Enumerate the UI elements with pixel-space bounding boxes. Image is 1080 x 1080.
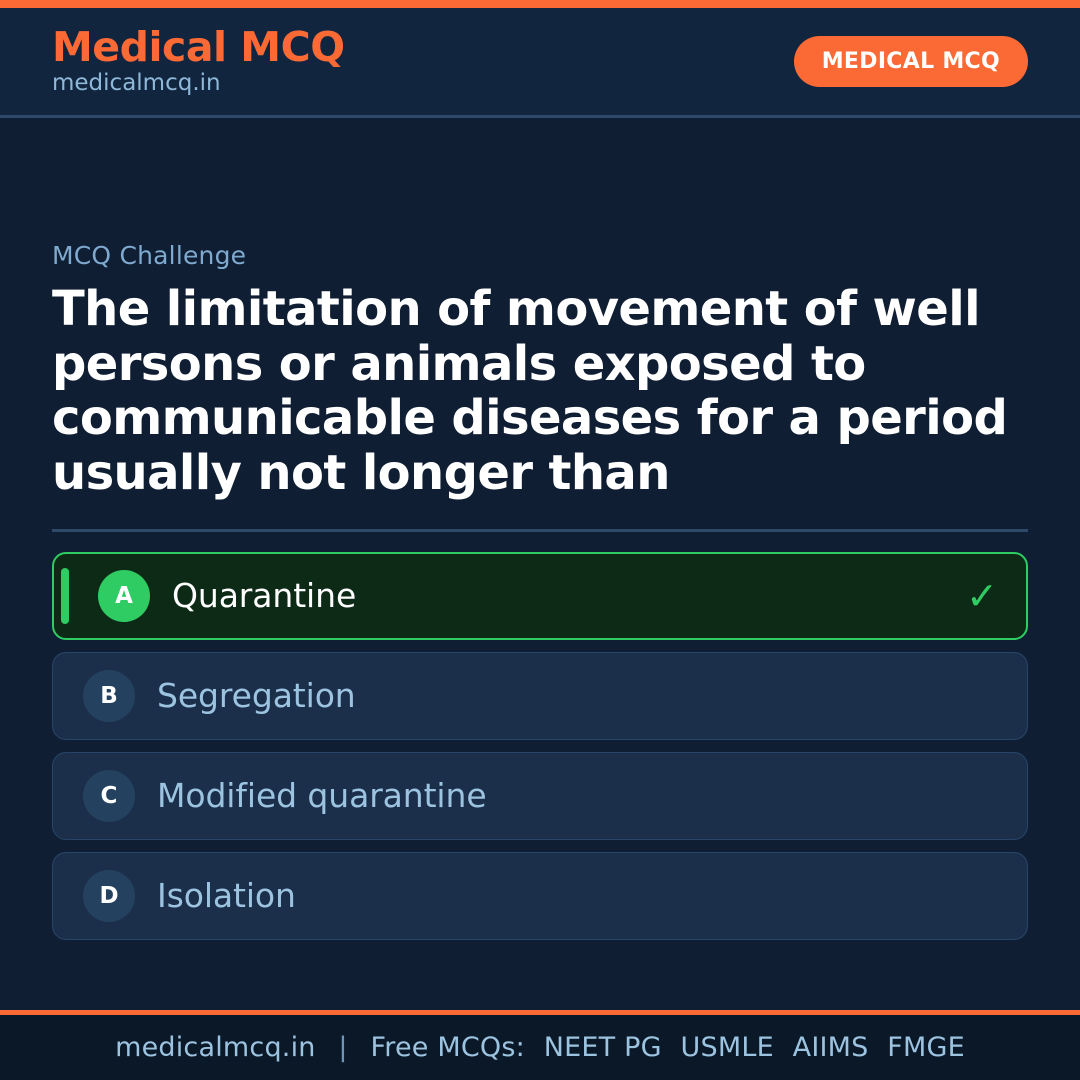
option-letter-badge-a: A xyxy=(98,570,150,622)
brand-title: Medical MCQ xyxy=(52,26,345,69)
option-label-b: Segregation xyxy=(157,676,356,715)
footer-exam-usmle[interactable]: USMLE xyxy=(671,1032,774,1063)
brand-url: medicalmcq.in xyxy=(52,71,345,96)
app-header: Medical MCQ medicalmcq.in MEDICAL MCQ xyxy=(0,8,1080,118)
main-content: MCQ Challenge The limitation of movement… xyxy=(0,121,1080,1010)
question-divider xyxy=(52,529,1028,532)
option-row-c[interactable]: C Modified quarantine xyxy=(52,752,1028,840)
brand-block[interactable]: Medical MCQ medicalmcq.in xyxy=(52,26,345,96)
header-badge[interactable]: MEDICAL MCQ xyxy=(794,36,1028,87)
question-zone: MCQ Challenge The limitation of movement… xyxy=(52,121,1028,532)
options-list: A Quarantine ✓ B Segregation C Modified … xyxy=(52,552,1028,940)
option-row-b[interactable]: B Segregation xyxy=(52,652,1028,740)
option-row-d[interactable]: D Isolation xyxy=(52,852,1028,940)
option-letter-badge-c: C xyxy=(83,770,135,822)
option-letter-badge-d: D xyxy=(83,870,135,922)
footer-site[interactable]: medicalmcq.in xyxy=(115,1032,316,1063)
footer-exams-label: Free MCQs: xyxy=(371,1032,525,1063)
app-footer: medicalmcq.in | Free MCQs: NEET PG USMLE… xyxy=(0,1010,1080,1080)
question-kicker: MCQ Challenge xyxy=(52,241,1028,270)
footer-exam-fmge[interactable]: FMGE xyxy=(877,1032,965,1063)
option-letter-badge-b: B xyxy=(83,670,135,722)
top-accent-bar xyxy=(0,0,1080,8)
option-label-d: Isolation xyxy=(157,876,296,915)
footer-separator: | xyxy=(324,1032,361,1063)
footer-exam-neetpg[interactable]: NEET PG xyxy=(534,1032,662,1063)
footer-text: medicalmcq.in | Free MCQs: NEET PG USMLE… xyxy=(115,1032,965,1063)
footer-exam-aiims[interactable]: AIIMS xyxy=(783,1032,869,1063)
option-label-a: Quarantine xyxy=(172,576,356,615)
option-label-c: Modified quarantine xyxy=(157,776,487,815)
check-icon: ✓ xyxy=(966,577,998,615)
question-text: The limitation of movement of well perso… xyxy=(52,282,1028,501)
option-row-a[interactable]: A Quarantine ✓ xyxy=(52,552,1028,640)
correct-accent-bar xyxy=(61,568,69,624)
